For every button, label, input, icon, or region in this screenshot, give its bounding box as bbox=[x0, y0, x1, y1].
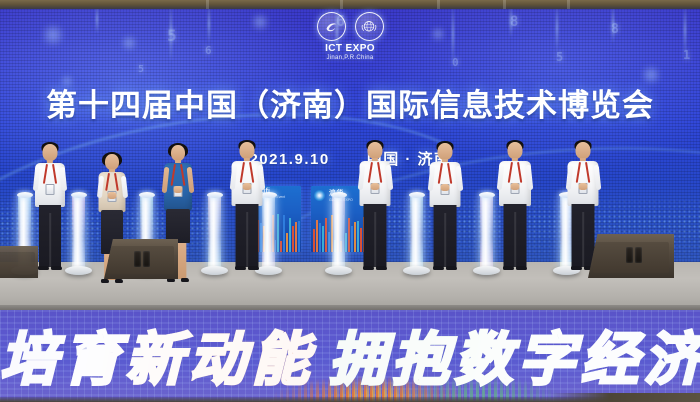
shoe bbox=[503, 266, 514, 270]
screen-bar bbox=[325, 218, 327, 252]
screen-bar bbox=[295, 222, 297, 252]
banner-phrase-1: 培育新动能 bbox=[0, 329, 315, 392]
launch-podium[interactable] bbox=[332, 196, 345, 270]
logo-wordmark: ICT EXPO bbox=[0, 43, 700, 54]
podium-light-tint bbox=[332, 196, 345, 270]
screen-bar bbox=[345, 233, 347, 252]
podium-light-tint bbox=[208, 196, 221, 270]
shoe bbox=[51, 266, 62, 270]
speaker-handle bbox=[626, 247, 633, 263]
head bbox=[171, 145, 185, 161]
ceiling-truss-band bbox=[0, 0, 700, 9]
name-badge bbox=[46, 184, 55, 195]
leg-split bbox=[514, 212, 516, 267]
leg-split bbox=[49, 213, 51, 267]
ceremony-photo: 568586015 IC bbox=[0, 0, 700, 402]
launch-podium[interactable] bbox=[208, 196, 221, 270]
logo-emblems bbox=[0, 12, 700, 41]
shoe bbox=[38, 266, 49, 270]
screen-bar bbox=[286, 233, 288, 252]
podium-launch-ball[interactable] bbox=[207, 192, 223, 198]
participant-6 bbox=[422, 141, 468, 271]
shoe bbox=[363, 266, 374, 270]
shoe bbox=[571, 266, 582, 270]
head bbox=[508, 142, 523, 159]
banner-phrase-2: 拥抱数字经济 bbox=[329, 329, 700, 392]
clapping-hands bbox=[579, 183, 588, 190]
monitor-speaker-1 bbox=[104, 239, 178, 279]
podium-launch-ball[interactable] bbox=[139, 192, 155, 198]
launch-podium[interactable] bbox=[72, 196, 85, 270]
clapping-hands bbox=[174, 186, 183, 193]
shoe bbox=[376, 266, 387, 270]
screen-bar bbox=[313, 229, 315, 252]
screen-bar bbox=[316, 220, 318, 252]
screen-bar bbox=[289, 218, 291, 252]
shoe bbox=[446, 266, 457, 270]
event-logo: ICT EXPO Jinan,P.R.China bbox=[0, 12, 700, 61]
head bbox=[43, 144, 58, 161]
monitor-speaker-2 bbox=[588, 234, 674, 278]
page-title: 第十四届中国（济南）国际信息技术博览会 bbox=[0, 80, 700, 125]
participant-7 bbox=[492, 140, 538, 270]
shoe bbox=[181, 278, 189, 282]
speaker-handle bbox=[143, 251, 150, 267]
shoe bbox=[433, 266, 444, 270]
leg-split bbox=[582, 212, 584, 267]
shoe bbox=[115, 279, 123, 283]
clapping-hands bbox=[511, 183, 520, 190]
podium-light-tint bbox=[72, 196, 85, 270]
speaker-handle bbox=[635, 247, 642, 263]
leg-split bbox=[246, 212, 248, 267]
screen-bar bbox=[298, 221, 300, 252]
screen-bar bbox=[292, 226, 294, 252]
screen-bar bbox=[283, 215, 285, 252]
leg-split bbox=[374, 212, 376, 267]
head bbox=[438, 143, 453, 160]
date-location-separator bbox=[345, 151, 351, 168]
shoe bbox=[101, 279, 109, 283]
screen-bar bbox=[328, 232, 330, 252]
logo-subtitle: Jinan,P.R.China bbox=[0, 55, 700, 61]
podium-launch-ball[interactable] bbox=[71, 192, 87, 198]
screen-bar bbox=[319, 223, 321, 252]
ict-swoosh-emblem bbox=[317, 12, 346, 41]
globe-laurel-emblem bbox=[355, 12, 384, 41]
shoe bbox=[235, 266, 246, 270]
screen-bar bbox=[280, 241, 282, 252]
legs bbox=[166, 209, 190, 243]
clapping-hands bbox=[441, 184, 450, 191]
clapping-hands bbox=[371, 183, 380, 190]
screen-bar bbox=[322, 226, 324, 253]
location-dot: · bbox=[405, 151, 412, 168]
screen-bar bbox=[277, 214, 279, 252]
bottom-banner: 培育新动能拥抱数字经济 bbox=[0, 310, 700, 402]
shoe bbox=[516, 266, 527, 270]
podium-base bbox=[325, 266, 352, 275]
speaker-face bbox=[0, 252, 35, 274]
clapping-hands bbox=[108, 192, 117, 199]
podium-launch-ball[interactable] bbox=[331, 192, 347, 198]
participant-5 bbox=[352, 140, 398, 270]
participant-4 bbox=[224, 140, 270, 270]
head bbox=[368, 142, 383, 159]
leg-split bbox=[444, 213, 446, 267]
head bbox=[576, 142, 591, 159]
shoe bbox=[248, 266, 259, 270]
banner-slogan: 培育新动能拥抱数字经济 bbox=[0, 314, 700, 396]
clapping-hands bbox=[243, 183, 252, 190]
monitor-speaker-3 bbox=[0, 246, 38, 278]
banner-right-shadow bbox=[550, 393, 700, 402]
head bbox=[240, 142, 255, 159]
speaker-handle bbox=[134, 251, 141, 267]
head bbox=[105, 154, 119, 170]
screen-bar bbox=[348, 218, 350, 252]
brand-circle-logo bbox=[314, 190, 325, 201]
